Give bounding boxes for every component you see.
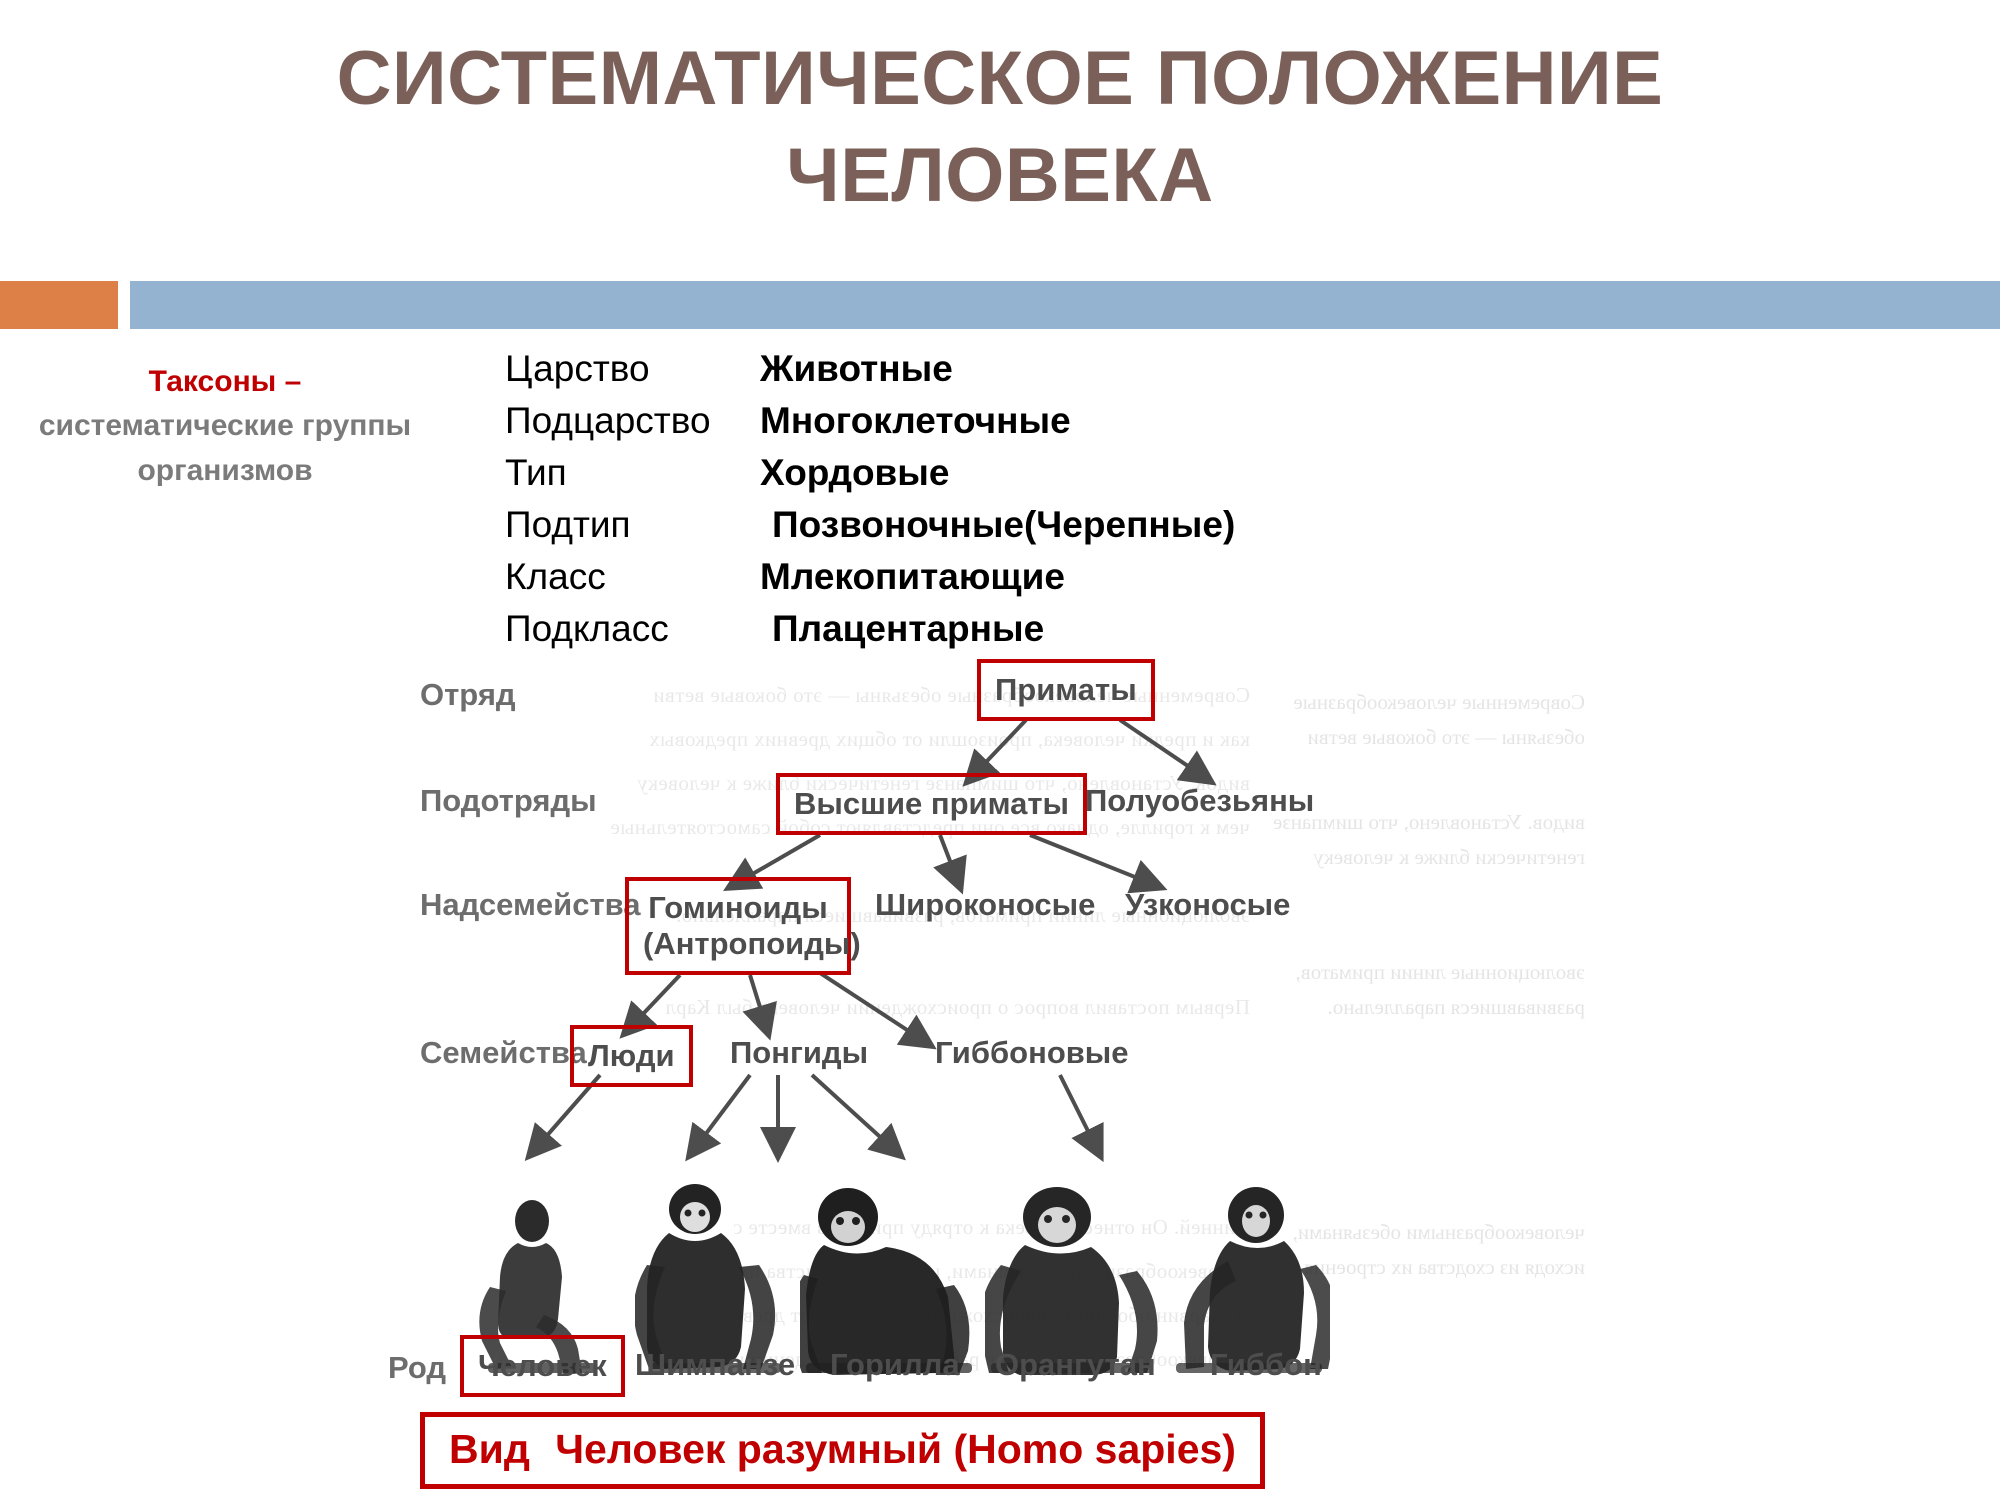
rank-label-genera: Род: [388, 1350, 446, 1386]
definition-term: Таксоны –: [10, 360, 440, 404]
taxonomy-row: Подтип Позвоночные(Черепные): [505, 504, 1405, 556]
taxonomy-rank: Царство: [505, 348, 760, 390]
definition-body: систематические группы организмов: [10, 404, 440, 493]
taxonomy-name: Млекопитающие: [760, 556, 1065, 598]
taxonomy-rank: Тип: [505, 452, 760, 494]
taxonomy-row: Царство Животные: [505, 348, 1405, 400]
taxonomy-row: Тип Хордовые: [505, 452, 1405, 504]
figure-chimpanzee: [635, 1175, 795, 1375]
species-name-label: Человек разумный (Homo sapies): [555, 1426, 1236, 1472]
node-higher-primates[interactable]: Высшие приматы: [776, 773, 1087, 835]
taxonomy-rank: Подцарство: [505, 400, 760, 442]
taxonomy-rank: Подтип: [505, 504, 760, 546]
node-primates[interactable]: Приматы: [977, 659, 1155, 721]
rank-label-order: Отряд: [420, 677, 516, 713]
taxonomy-name: Многоклеточные: [760, 400, 1071, 442]
rank-label-suborders: Подотряды: [420, 783, 597, 819]
taxonomy-rank: Подкласс: [505, 608, 760, 650]
node-hominoids[interactable]: Гоминоиды (Антропоиды): [625, 877, 851, 975]
genus-chimpanzee: Шимпанзе: [635, 1347, 795, 1383]
species-rank-label: Вид: [449, 1426, 530, 1472]
figure-gorilla: [800, 1175, 980, 1375]
taxonomy-name: Плацентарные: [760, 608, 1044, 650]
taxonomy-row: Подцарство Многоклеточные: [505, 400, 1405, 452]
node-pongids: Понгиды: [730, 1035, 868, 1071]
rank-label-families: Семейства: [420, 1035, 587, 1071]
taxonomy-name: Хордовые: [760, 452, 949, 494]
taxonomy-name: Животные: [760, 348, 953, 390]
species-banner[interactable]: Вид Человек разумный (Homo sapies): [420, 1412, 1265, 1489]
primate-classification-diagram: Современные человекообразные обезьяны — …: [420, 655, 1580, 1485]
taxonomy-rank-list: Царство Животные Подцарство Многоклеточн…: [505, 348, 1405, 660]
page-title: СИСТЕМАТИЧЕСКОЕ ПОЛОЖЕНИЕ ЧЕЛОВЕКА: [180, 30, 1820, 225]
node-catarrhines: Узконосые: [1125, 887, 1290, 923]
node-humans-family[interactable]: Люди: [570, 1025, 693, 1087]
taxonomy-name: Позвоночные(Черепные): [760, 504, 1235, 546]
figure-orangutan: [985, 1175, 1160, 1375]
accent-bar-blue: [130, 281, 2000, 329]
genus-gibbon: Гиббон: [1210, 1347, 1322, 1383]
node-platyrrhines: Широконосые: [875, 887, 1095, 923]
taxonomy-row: Класс Млекопитающие: [505, 556, 1405, 608]
genus-orangutan: Орангутан: [995, 1347, 1156, 1383]
node-hylobatids: Гиббоновые: [935, 1035, 1129, 1071]
taxon-definition: Таксоны – систематические группы организ…: [10, 360, 440, 493]
taxonomy-rank: Класс: [505, 556, 760, 598]
taxonomy-row: Подкласс Плацентарные: [505, 608, 1405, 660]
accent-bar-orange: [0, 281, 118, 329]
node-prosimians: Полуобезьяны: [1085, 783, 1314, 819]
genus-human[interactable]: Человек: [460, 1335, 625, 1397]
node-hominoids-line2: (Антропоиды): [643, 926, 833, 962]
node-hominoids-line1: Гоминоиды: [648, 890, 827, 925]
genus-gorilla: Горилла: [830, 1347, 960, 1383]
figure-gibbon: [1170, 1175, 1330, 1375]
rank-label-superfamilies: Надсемейства: [420, 887, 641, 923]
